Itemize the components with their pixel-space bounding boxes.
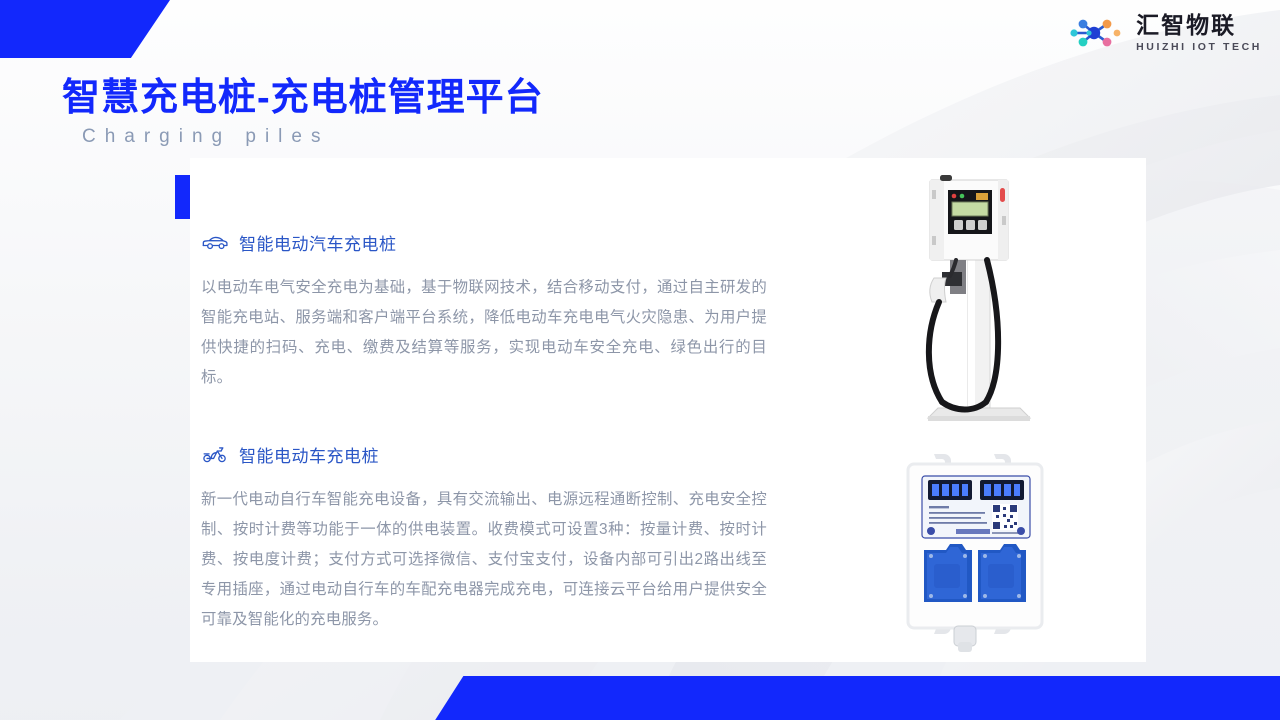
logo-chinese-name: 汇智物联: [1136, 14, 1262, 37]
page-title: 智慧充电桩-充电桩管理平台: [62, 66, 544, 121]
ev-charging-pile-photo: [890, 168, 1080, 428]
section-title: 智能电动车充电桩: [239, 442, 379, 467]
brand-logo: 汇智物联 HUIZHI IOT TECH: [1067, 13, 1262, 53]
section-body-text: 新一代电动自行车智能充电设备，具有交流输出、电源远程通断控制、充电安全控制、按时…: [190, 485, 767, 635]
section-ev-charging-pile: 智能电动汽车充电桩 以电动车电气安全充电为基础，基于物联网技术，结合移动支付，通…: [190, 230, 770, 393]
ebike-charging-box-photo: [882, 446, 1072, 656]
section-title: 智能电动汽车充电桩: [239, 230, 397, 255]
section-body-text: 以电动车电气安全充电为基础，基于物联网技术，结合移动支付，通过自主研发的智能充电…: [190, 273, 767, 393]
logo-english-name: HUIZHI IOT TECH: [1136, 42, 1262, 53]
page-subtitle: Charging piles: [82, 126, 329, 148]
section-ebike-charging-pile: 智能电动车充电桩 新一代电动自行车智能充电设备，具有交流输出、电源远程通断控制、…: [190, 442, 770, 635]
car-icon: [201, 232, 229, 254]
section-header: 智能电动汽车充电桩: [190, 230, 770, 255]
scooter-icon: [201, 444, 229, 466]
molecule-network-icon: [1067, 13, 1127, 53]
content-card: 智能电动汽车充电桩 以电动车电气安全充电为基础，基于物联网技术，结合移动支付，通…: [190, 158, 1146, 662]
section-header: 智能电动车充电桩: [190, 442, 770, 467]
